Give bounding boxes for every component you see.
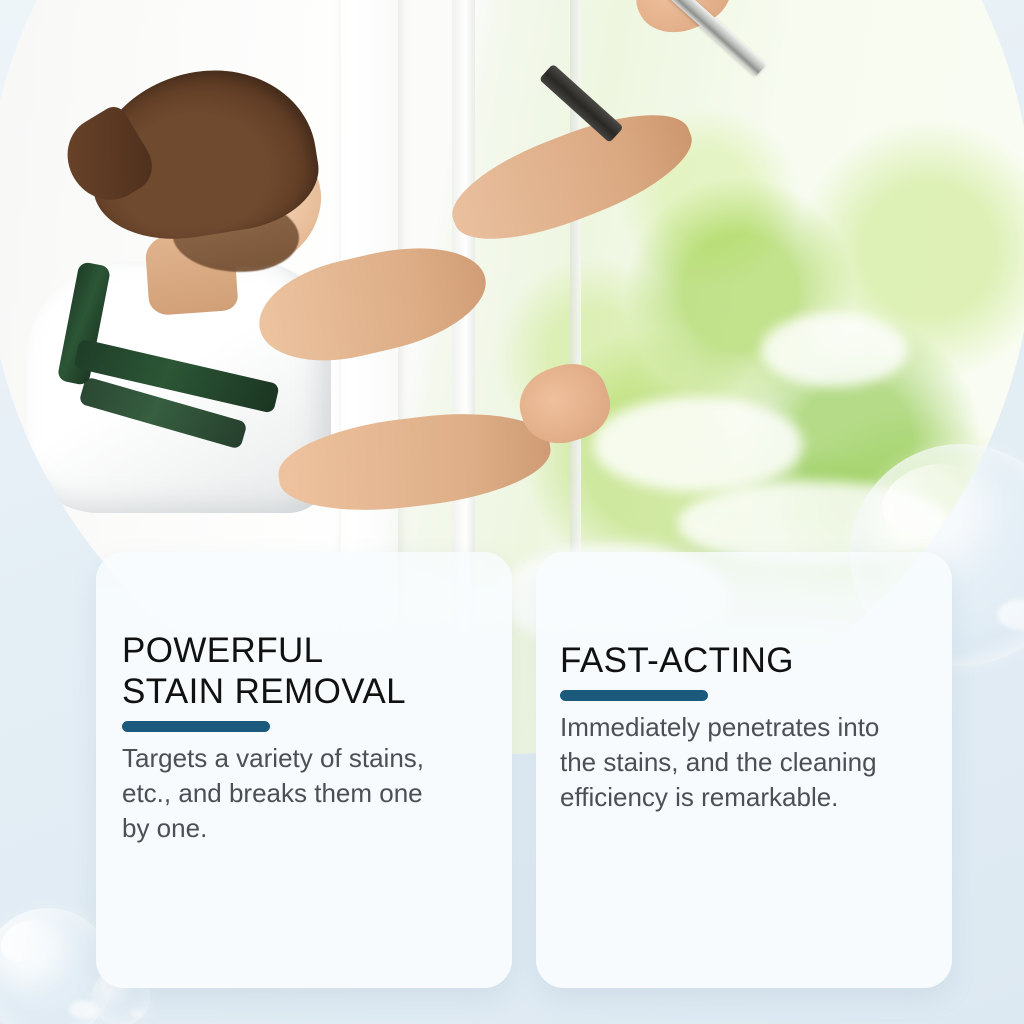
feature-cards: POWERFUL STAIN REMOVAL Targets a variety… bbox=[0, 0, 1024, 1024]
card-accent-bar bbox=[122, 721, 270, 732]
card-title: FAST-ACTING bbox=[560, 640, 938, 681]
poster-canvas: POWERFUL STAIN REMOVAL Targets a variety… bbox=[0, 0, 1024, 1024]
card-body: POWERFUL STAIN REMOVAL Targets a variety… bbox=[122, 630, 490, 846]
feature-card-fast-acting: FAST-ACTING Immediately penetrates into … bbox=[536, 552, 952, 988]
card-description: Immediately penetrates into the stains, … bbox=[560, 710, 938, 815]
card-title: POWERFUL STAIN REMOVAL bbox=[122, 630, 490, 712]
card-description: Targets a variety of stains, etc., and b… bbox=[122, 741, 490, 846]
card-accent-bar bbox=[560, 690, 708, 701]
card-body: FAST-ACTING Immediately penetrates into … bbox=[560, 640, 938, 815]
feature-card-powerful-stain-removal: POWERFUL STAIN REMOVAL Targets a variety… bbox=[96, 552, 512, 988]
